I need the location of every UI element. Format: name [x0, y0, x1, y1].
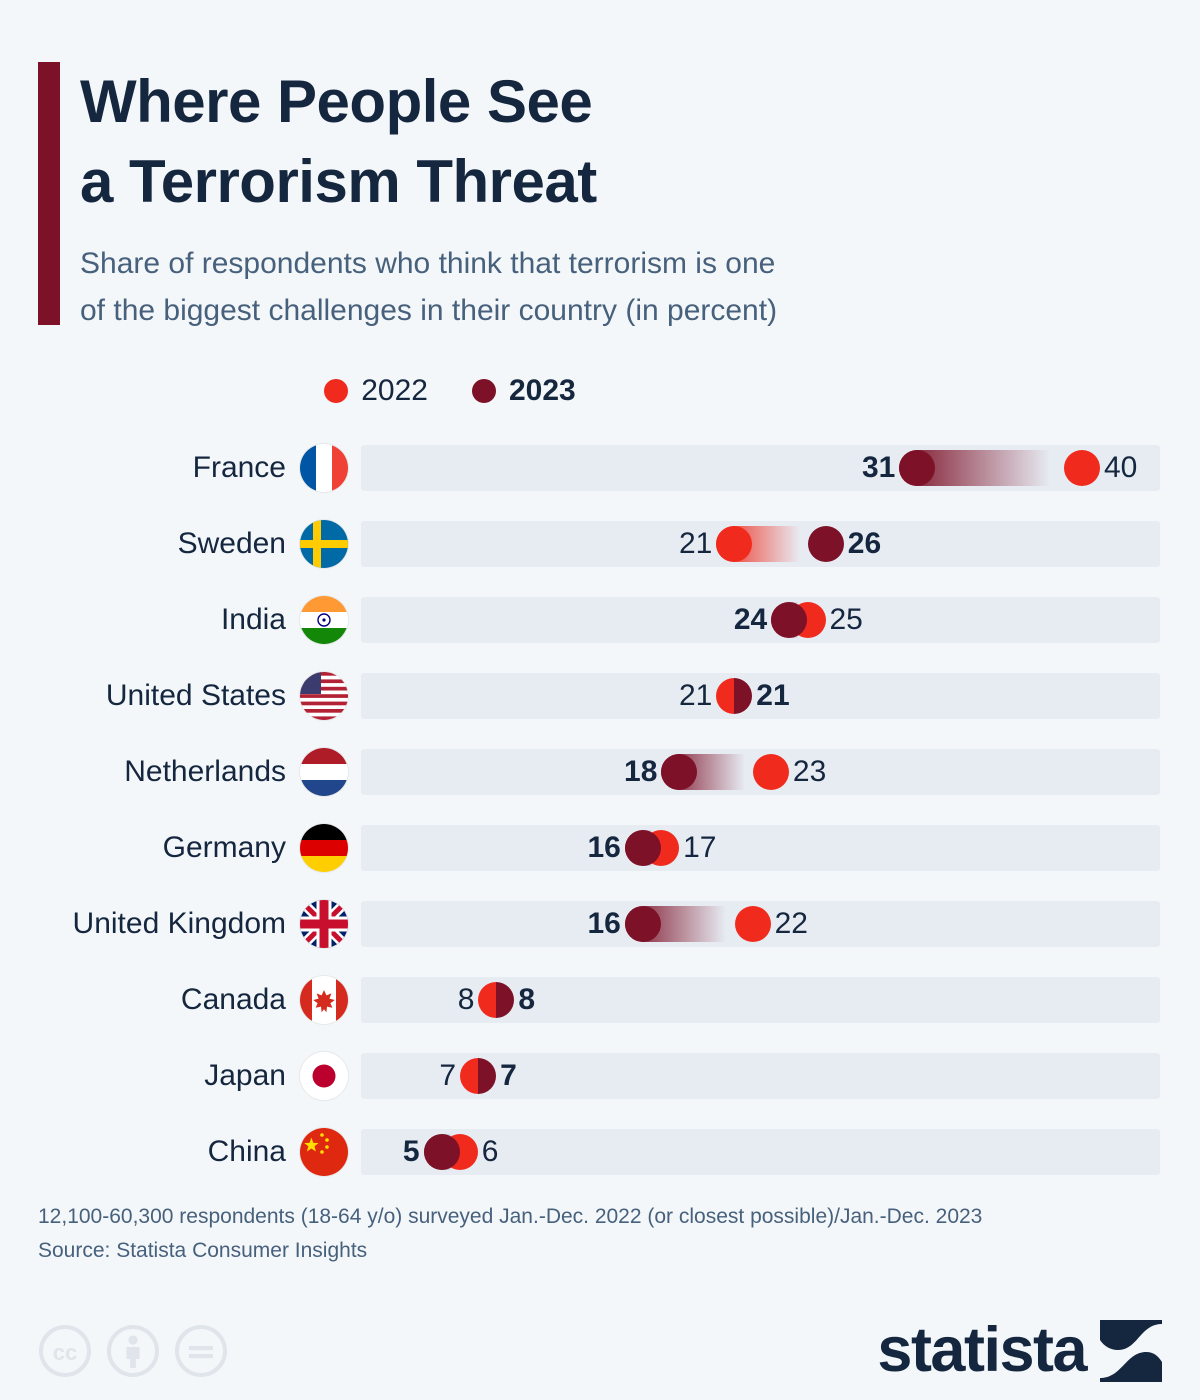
title-line-2: a Terrorism Threat — [80, 142, 1200, 222]
subtitle-line-2: of the biggest challenges in their count… — [80, 287, 1090, 334]
dot-2023-icon — [625, 830, 661, 866]
svg-text:cc: cc — [53, 1340, 77, 1365]
flag-se-icon — [300, 520, 348, 568]
footnote-respondents: 12,100-60,300 respondents (18-64 y/o) su… — [38, 1200, 982, 1234]
no-derivatives-equals-icon[interactable] — [174, 1324, 228, 1378]
page-subtitle: Share of respondents who think that terr… — [80, 240, 1090, 335]
attribution-person-icon[interactable] — [106, 1324, 160, 1378]
chart-row: Germany1617 — [0, 810, 1200, 886]
value-label-left: 16 — [587, 831, 620, 865]
chart-row: France3140 — [0, 430, 1200, 506]
value-label-right: 6 — [482, 1135, 499, 1169]
creative-commons-icons: cc — [38, 1324, 228, 1378]
value-label-right: 25 — [830, 603, 863, 637]
dot-2023-icon — [625, 906, 661, 942]
statista-wordmark: statista — [877, 1319, 1086, 1382]
legend-label-2023: 2023 — [509, 374, 576, 408]
bar-track-wrap: 56 — [348, 1114, 1200, 1190]
flag-cn-icon — [300, 1128, 348, 1176]
bar-track-wrap: 3140 — [348, 430, 1200, 506]
bar-track-wrap: 1823 — [348, 734, 1200, 810]
chart-row: China56 — [0, 1114, 1200, 1190]
value-label-right: 23 — [793, 755, 826, 789]
footnote-source: Source: Statista Consumer Insights — [38, 1234, 982, 1268]
country-label: China — [0, 1135, 300, 1169]
flag-nl-icon — [300, 748, 348, 796]
value-label-left: 24 — [734, 603, 767, 637]
value-label-right: 40 — [1104, 451, 1137, 485]
value-label-left: 16 — [587, 907, 620, 941]
flag-us-icon — [300, 672, 348, 720]
footer-bar: cc statista — [38, 1319, 1162, 1382]
chart-row: Japan77 — [0, 1038, 1200, 1114]
country-label: United States — [0, 679, 300, 713]
value-label-right: 17 — [683, 831, 716, 865]
bar-track-wrap: 88 — [348, 962, 1200, 1038]
country-label: Germany — [0, 831, 300, 865]
value-label-left: 31 — [862, 451, 895, 485]
chart-row: Sweden2126 — [0, 506, 1200, 582]
dot-2022-icon — [735, 906, 771, 942]
legend-dot-2022-icon — [324, 379, 348, 403]
value-label-right: 26 — [848, 527, 881, 561]
value-label-left: 21 — [679, 679, 712, 713]
bar-track-wrap: 1617 — [348, 810, 1200, 886]
value-label-left: 18 — [624, 755, 657, 789]
country-label: Japan — [0, 1059, 300, 1093]
country-label: Sweden — [0, 527, 300, 561]
bar-track-wrap: 2126 — [348, 506, 1200, 582]
value-label-left: 5 — [403, 1135, 420, 1169]
chart-legend: 2022 2023 — [0, 374, 1200, 408]
value-label-left: 21 — [679, 527, 712, 561]
flag-ca-icon — [300, 976, 348, 1024]
country-label: United Kingdom — [0, 907, 300, 941]
statista-mark-icon — [1100, 1320, 1162, 1382]
bar-track-wrap: 77 — [348, 1038, 1200, 1114]
flag-in-icon — [300, 596, 348, 644]
bar-track-wrap: 1622 — [348, 886, 1200, 962]
flag-fr-icon — [300, 444, 348, 492]
country-label: Canada — [0, 983, 300, 1017]
chart-row: Netherlands1823 — [0, 734, 1200, 810]
value-label-left: 8 — [458, 983, 475, 1017]
cc-icon[interactable]: cc — [38, 1324, 92, 1378]
legend-label-2022: 2022 — [361, 374, 428, 408]
value-label-right: 22 — [775, 907, 808, 941]
bar-track-wrap: 2121 — [348, 658, 1200, 734]
statista-logo[interactable]: statista — [877, 1319, 1162, 1382]
value-label-right: 21 — [756, 679, 789, 713]
legend-dot-2023-icon — [472, 379, 496, 403]
legend-item-2023[interactable]: 2023 — [472, 374, 576, 408]
accent-bar — [38, 62, 60, 325]
chart-row: United Kingdom1622 — [0, 886, 1200, 962]
value-label-right: 7 — [500, 1059, 517, 1093]
flag-jp-icon — [300, 1052, 348, 1100]
header: Where People See a Terrorism Threat Shar… — [0, 0, 1200, 334]
chart-row: India2425 — [0, 582, 1200, 658]
dumbbell-chart: France3140Sweden2126India2425United Stat… — [0, 430, 1200, 1190]
chart-row: Canada88 — [0, 962, 1200, 1038]
dot-2023-icon — [808, 526, 844, 562]
title-line-1: Where People See — [80, 62, 1200, 142]
bar-track-wrap: 2425 — [348, 582, 1200, 658]
country-label: Netherlands — [0, 755, 300, 789]
value-label-right: 8 — [518, 983, 535, 1017]
bar-track — [361, 825, 1160, 871]
country-label: France — [0, 451, 300, 485]
value-label-left: 7 — [439, 1059, 456, 1093]
chart-row: United States2121 — [0, 658, 1200, 734]
flag-gb-icon — [300, 900, 348, 948]
page-title: Where People See a Terrorism Threat — [80, 62, 1200, 222]
country-label: India — [0, 603, 300, 637]
flag-de-icon — [300, 824, 348, 872]
legend-item-2022[interactable]: 2022 — [324, 374, 428, 408]
dot-2023-icon — [424, 1134, 460, 1170]
subtitle-line-1: Share of respondents who think that terr… — [80, 240, 1090, 287]
footnotes: 12,100-60,300 respondents (18-64 y/o) su… — [38, 1200, 982, 1268]
